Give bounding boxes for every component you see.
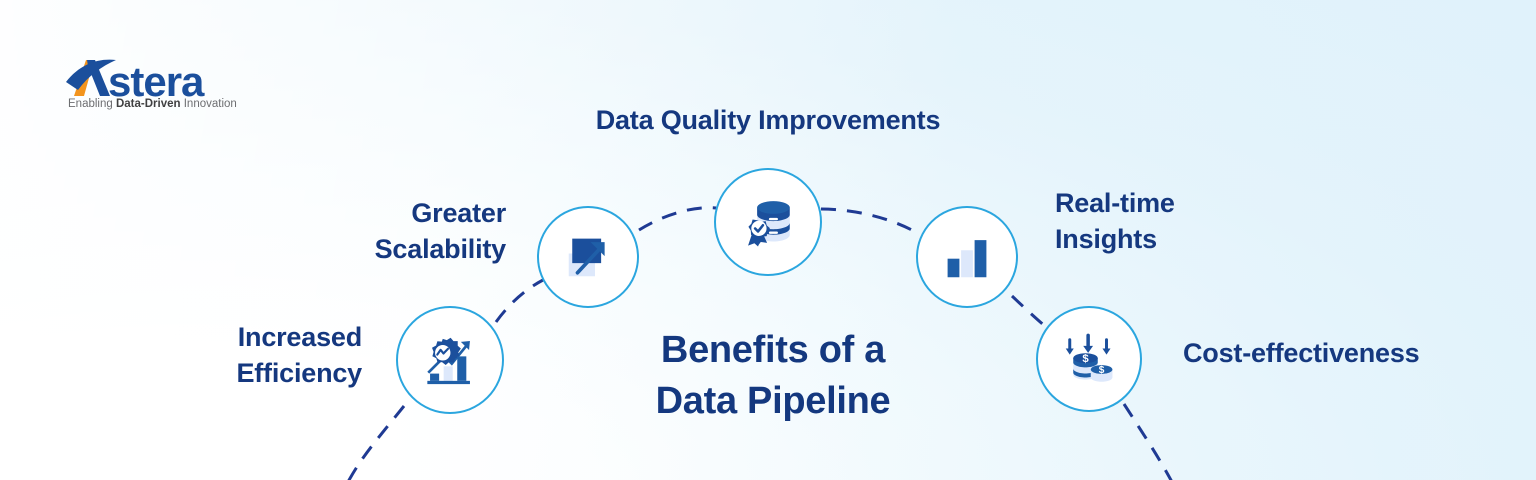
label-increased-efficiency: Increased Efficiency [170, 320, 362, 391]
node-real-time-insights[interactable] [916, 206, 1018, 308]
label-greater-scalability: Greater Scalability [310, 196, 506, 267]
svg-text:$: $ [1099, 365, 1105, 376]
database-quality-badge-icon [739, 193, 797, 251]
node-increased-efficiency[interactable] [396, 306, 504, 414]
label-cost-effectiveness: Cost-effectiveness [1183, 336, 1513, 372]
node-greater-scalability[interactable] [537, 206, 639, 308]
node-data-quality-improvements[interactable] [714, 168, 822, 276]
expand-arrow-icon [560, 229, 616, 285]
svg-text:$: $ [1082, 353, 1089, 365]
infographic-canvas: stera Enabling Data-Driven Innovation [0, 0, 1536, 480]
label-real-time-insights: Real-time Insights [1055, 186, 1285, 257]
label-data-quality-improvements: Data Quality Improvements [518, 103, 1018, 139]
bar-chart-icon [940, 230, 994, 284]
node-cost-effectiveness[interactable]: $ $ [1036, 306, 1142, 412]
coins-down-arrows-icon: $ $ [1061, 331, 1117, 387]
gear-growth-chart-icon [421, 331, 479, 389]
page-title: Benefits of a Data Pipeline [583, 325, 963, 426]
